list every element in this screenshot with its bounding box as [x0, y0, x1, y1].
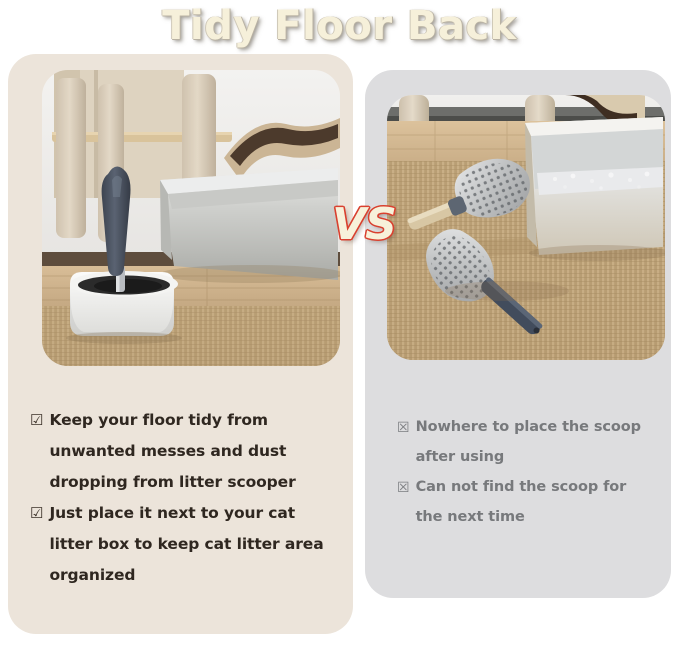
con-bullet-list: ☒ Nowhere to place the scoop after using…	[397, 412, 655, 532]
pro-bullet-item: ☑ Just place it next to your cat litter …	[30, 498, 340, 591]
vs-label: VS	[332, 199, 396, 250]
pro-photo	[42, 70, 340, 366]
vs-badge: VS	[330, 196, 398, 252]
con-bullet-text: Can not find the scoop for the next time	[416, 472, 655, 532]
checkbox-crossed-icon: ☒	[397, 472, 410, 502]
pro-bullet-text: Keep your floor tidy from unwanted messe…	[49, 405, 340, 498]
con-bullet-text: Nowhere to place the scoop after using	[416, 412, 655, 472]
checkbox-crossed-icon: ☒	[397, 412, 410, 442]
checkbox-checked-icon: ☑	[30, 405, 43, 436]
page-title: Tidy Floor Back	[162, 3, 517, 49]
pro-bullet-list: ☑ Keep your floor tidy from unwanted mes…	[30, 405, 340, 591]
con-photo-illustration	[387, 95, 665, 360]
con-bullet-item: ☒ Nowhere to place the scoop after using	[397, 412, 655, 472]
title-bar: Tidy Floor Back	[0, 0, 679, 52]
checkbox-checked-icon: ☑	[30, 498, 43, 529]
pro-photo-illustration	[42, 70, 340, 366]
pro-bullet-item: ☑ Keep your floor tidy from unwanted mes…	[30, 405, 340, 498]
con-photo	[387, 95, 665, 360]
pro-bullet-text: Just place it next to your cat litter bo…	[49, 498, 340, 591]
comparison-infographic: Tidy Floor Back	[0, 0, 679, 653]
con-bullet-item: ☒ Can not find the scoop for the next ti…	[397, 472, 655, 532]
